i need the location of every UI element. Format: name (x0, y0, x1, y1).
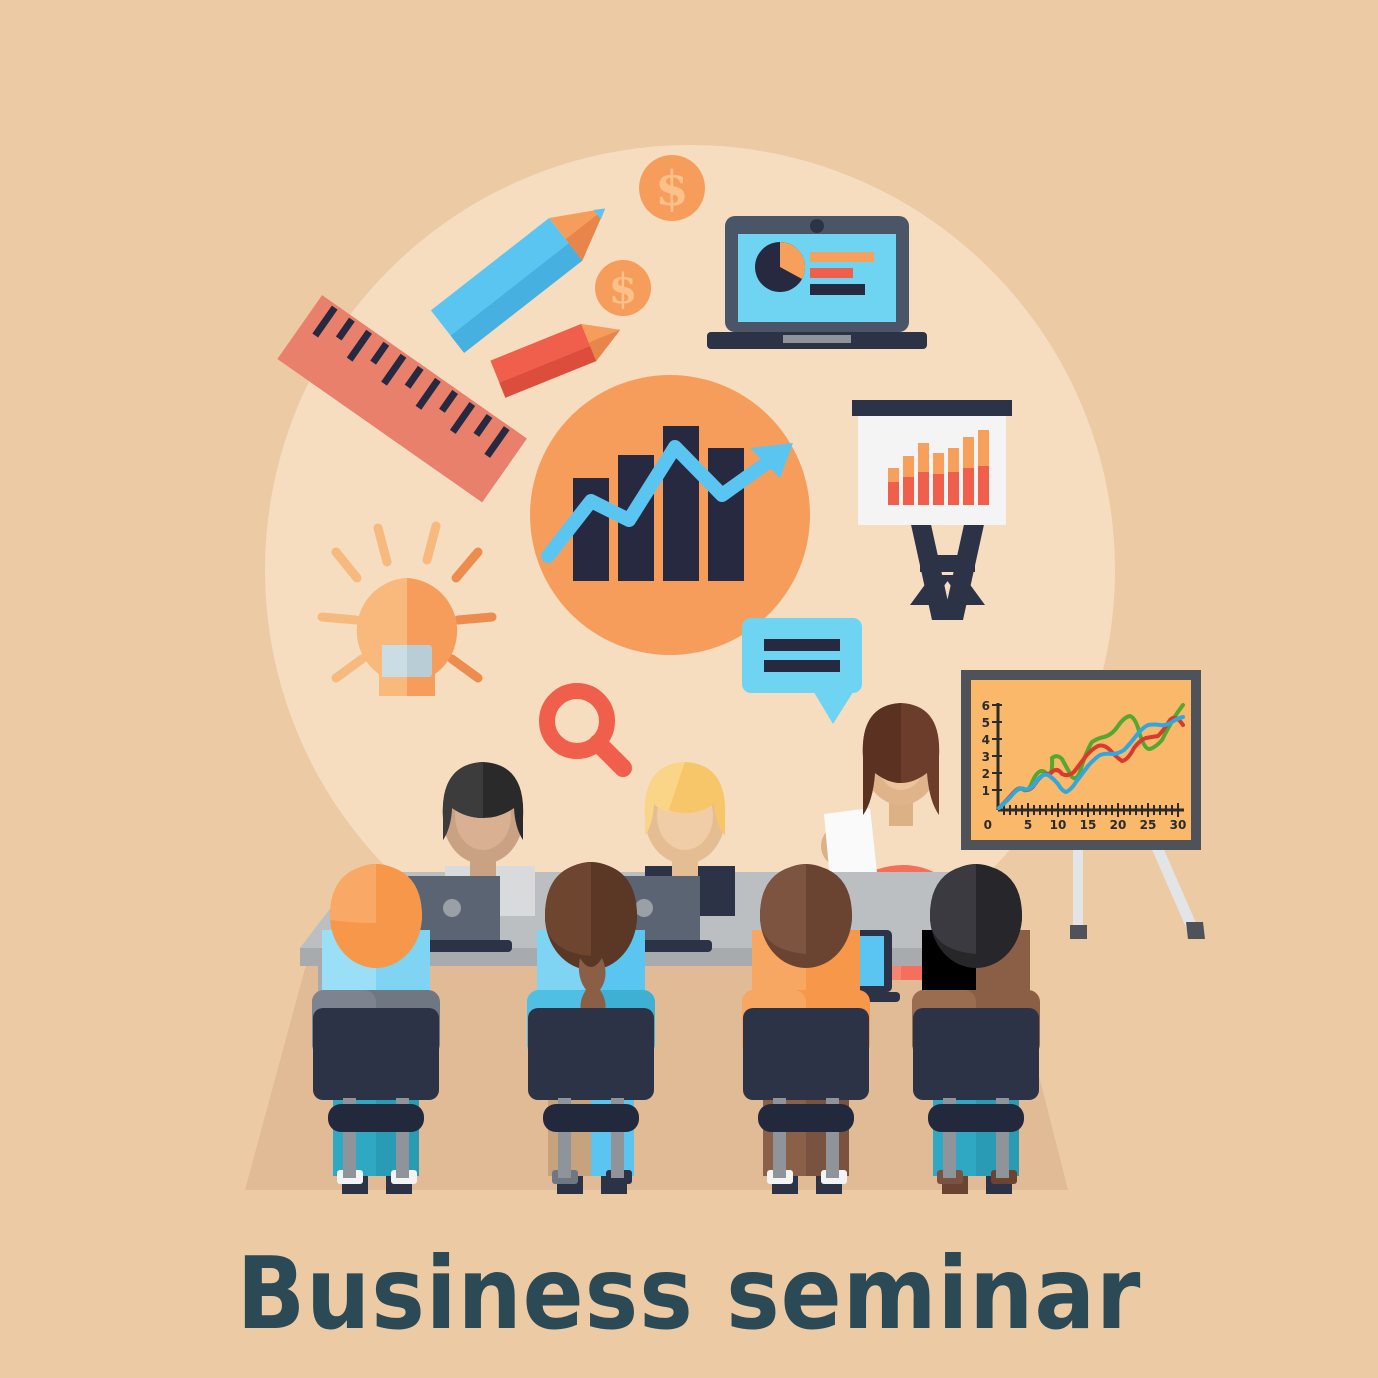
svg-text:4: 4 (982, 733, 990, 747)
coin-dollar-icon: $ (639, 155, 705, 221)
svg-text:0: 0 (984, 818, 992, 832)
laptop-icon (707, 216, 927, 349)
svg-text:15: 15 (1080, 818, 1097, 832)
svg-text:$: $ (655, 161, 688, 217)
svg-text:20: 20 (1110, 818, 1127, 832)
svg-text:25: 25 (1140, 818, 1157, 832)
bar-chart-growth-icon (530, 375, 810, 655)
svg-text:2: 2 (982, 767, 990, 781)
svg-text:5: 5 (1024, 818, 1032, 832)
svg-text:3: 3 (982, 750, 990, 764)
svg-text:5: 5 (982, 716, 990, 730)
svg-text:30: 30 (1170, 818, 1187, 832)
svg-text:6: 6 (982, 699, 990, 713)
svg-text:10: 10 (1050, 818, 1067, 832)
svg-text:$: $ (609, 265, 638, 313)
svg-text:1: 1 (982, 784, 990, 798)
page-title: Business seminar (237, 1235, 1142, 1352)
coin-dollar-icon: $ (595, 260, 651, 316)
illustration-canvas: $ $ (0, 0, 1378, 1378)
